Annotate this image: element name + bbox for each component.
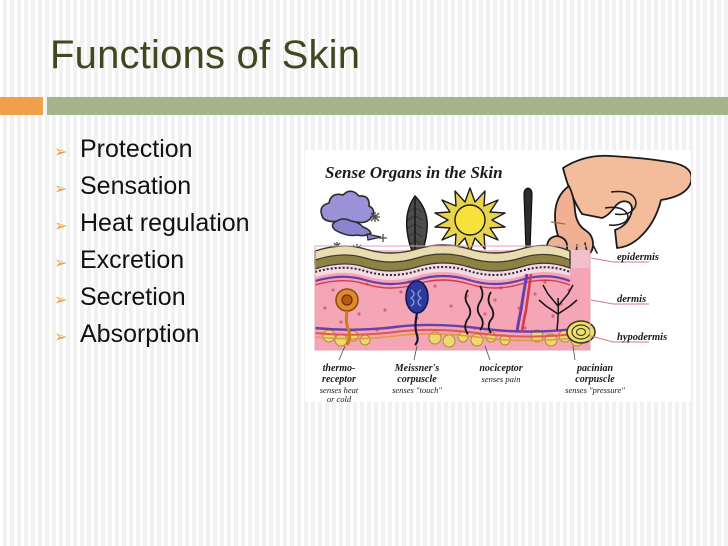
list-item-label: Sensation [80,168,191,205]
skin-cross-section-figure: Sense Organs in the Skin [305,150,691,402]
list-item: ➢ Secretion [50,279,300,316]
receptor-name-line2: receptor [322,374,356,385]
list-item: ➢ Protection [50,131,300,168]
bullet-list: ➢ Protection ➢ Sensation ➢ Heat regulati… [50,131,300,353]
figure-title: Sense Organs in the Skin [325,163,503,182]
list-item-label: Absorption [80,316,200,353]
chevron-bullet-icon: ➢ [50,134,80,171]
layer-label-dermis: dermis [617,294,646,305]
list-item-label: Heat regulation [80,205,250,242]
list-item-label: Secretion [80,279,186,316]
receptor-desc-line1: senses "touch" [392,385,442,395]
list-item-label: Protection [80,131,193,168]
receptor-desc-line1: senses pain [482,374,521,384]
title-rule-green-bar [47,97,728,115]
receptor-desc-line2: or cold [327,394,352,402]
slide: Functions of Skin ➢ Protection ➢ Sensati… [0,0,728,546]
page-title: Functions of Skin [50,28,360,82]
receptor-desc-line1: senses "pressure" [565,385,625,395]
list-item: ➢ Absorption [50,316,300,353]
list-item-label: Excretion [80,242,184,279]
list-item: ➢ Heat regulation [50,205,300,242]
chevron-bullet-icon: ➢ [50,208,80,245]
receptor-caption-meissner-corpuscle: Meissner's corpuscle senses "touch" [392,363,442,395]
title-rule-orange-accent [0,97,43,115]
receptor-name-line2: corpuscle [575,374,615,385]
receptor-name-line1: Meissner's [394,363,440,374]
list-item: ➢ Sensation [50,168,300,205]
chevron-bullet-icon: ➢ [50,282,80,319]
layer-label-epidermis: epidermis [617,252,659,263]
receptor-name-line1: pacinian [576,363,614,374]
layer-label-hypodermis: hypodermis [617,332,667,343]
chevron-bullet-icon: ➢ [50,171,80,208]
pacinian-corpuscle-structure [567,321,595,343]
receptor-name-line1: thermo- [323,363,356,374]
receptor-name-line1: nociceptor [479,363,522,374]
list-item: ➢ Excretion [50,242,300,279]
receptor-caption-nociceptor: nociceptor senses pain [479,363,522,384]
receptor-name-line2: corpuscle [397,374,437,385]
chevron-bullet-icon: ➢ [50,245,80,282]
skin-layers [315,245,595,350]
chevron-bullet-icon: ➢ [50,319,80,356]
